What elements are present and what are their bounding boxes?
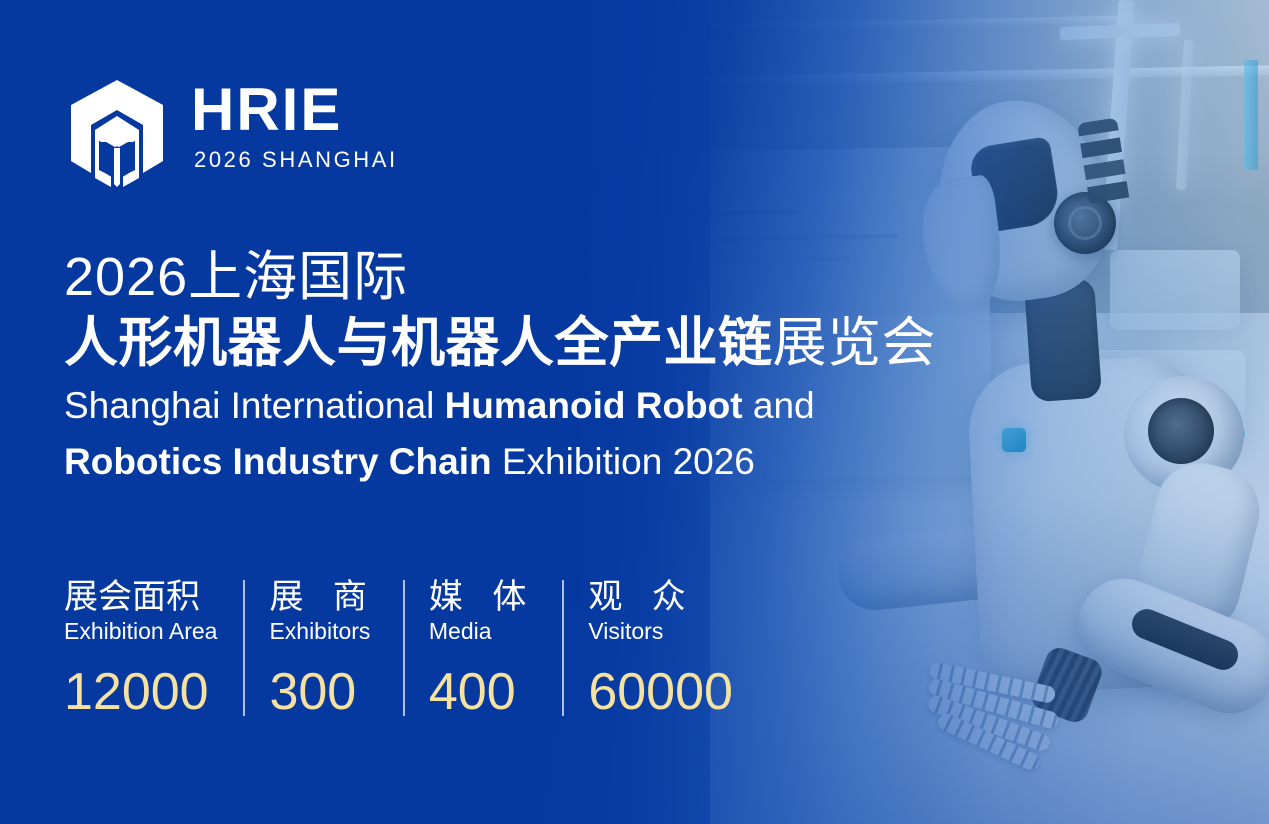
stat-label-cn: 媒 体	[429, 578, 536, 616]
stat-label-cn: 展会面积	[64, 578, 217, 616]
title-english-line-1: Shanghai International Humanoid Robot an…	[64, 381, 936, 430]
stat-label-en: Exhibition Area	[64, 618, 217, 646]
title-en-regular-b: and	[743, 385, 815, 426]
title-en-bold-b: Robotics Industry Chain	[64, 441, 492, 482]
stat-label-en: Media	[429, 618, 536, 646]
title-chinese-bold: 人形机器人与机器人全产业链	[64, 313, 773, 373]
logo-wordmark: HRIE	[191, 82, 398, 138]
title-chinese-line-2: 人形机器人与机器人全产业链展览会	[64, 312, 936, 376]
stat-exhibition-area: 展会面积 Exhibition Area 12000	[64, 578, 243, 718]
brand-logo[interactable]: HRIE 2026 SHANGHAI	[65, 78, 398, 188]
title-en-regular-a: Shanghai International	[64, 385, 445, 426]
stat-value: 400	[429, 666, 536, 718]
key-figures-row: 展会面积 Exhibition Area 12000 展 商 Exhibitor…	[64, 578, 759, 718]
title-en-bold-a: Humanoid Robot	[445, 385, 743, 426]
title-chinese-light: 展览会	[773, 313, 937, 373]
stat-label-cn: 展 商	[269, 578, 376, 616]
stat-value: 300	[269, 666, 376, 718]
stat-value: 12000	[64, 666, 217, 718]
stat-label-en: Exhibitors	[269, 618, 376, 646]
hrie-hexagon-robot-head-icon	[65, 78, 169, 188]
stat-visitors: 观 众 Visitors 60000	[562, 578, 759, 718]
exhibition-banner: HRIE 2026 SHANGHAI 2026上海国际 人形机器人与机器人全产业…	[0, 0, 1269, 824]
stat-value: 60000	[588, 666, 733, 718]
title-chinese-line-1: 2026上海国际	[64, 246, 936, 310]
title-en-regular-c: Exhibition 2026	[492, 441, 755, 482]
stat-label-en: Visitors	[588, 618, 733, 646]
stat-media: 媒 体 Media 400	[403, 578, 562, 718]
event-title-block: 2026上海国际 人形机器人与机器人全产业链展览会 Shanghai Inter…	[64, 246, 936, 486]
stat-exhibitors: 展 商 Exhibitors 300	[243, 578, 402, 718]
logo-tagline: 2026 SHANGHAI	[194, 147, 398, 173]
stat-label-cn: 观 众	[588, 578, 733, 616]
title-english-line-2: Robotics Industry Chain Exhibition 2026	[64, 437, 936, 486]
